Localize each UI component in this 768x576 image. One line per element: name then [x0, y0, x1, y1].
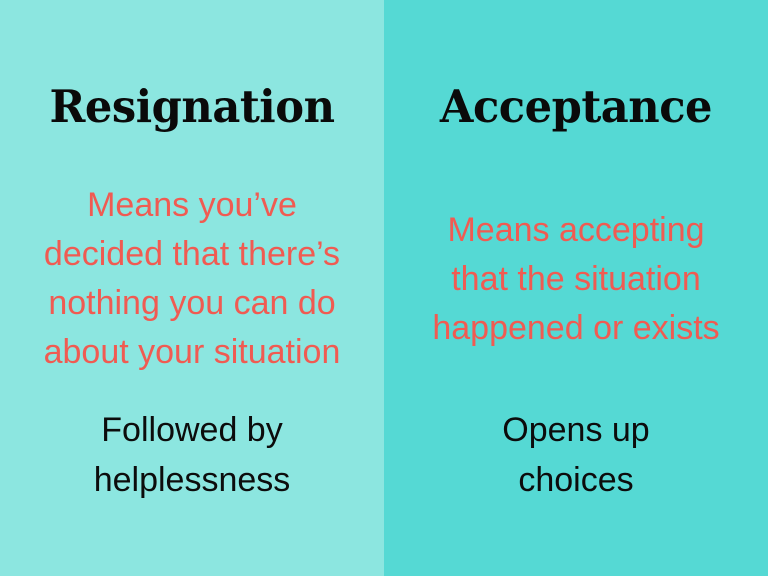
plain-line: helplessness: [0, 455, 384, 505]
accent-text-resignation: Means you’ve decided that there’s nothin…: [0, 181, 384, 377]
accent-line: decided that there’s: [0, 230, 384, 279]
plain-text-acceptance: Opens up choices: [384, 405, 768, 505]
accent-text-acceptance: Means accepting that the situation happe…: [384, 206, 768, 353]
plain-line: choices: [384, 455, 768, 505]
panel-title-resignation: Resignation: [8, 84, 377, 129]
accent-line: happened or exists: [384, 304, 768, 353]
plain-line: Followed by: [0, 405, 384, 455]
comparison-graphic: Resignation Means you’ve decided that th…: [0, 0, 768, 576]
plain-text-resignation: Followed by helplessness: [0, 405, 384, 505]
plain-line: Opens up: [384, 405, 768, 455]
panel-title-acceptance: Acceptance: [392, 84, 761, 129]
accent-line: nothing you can do: [0, 279, 384, 328]
accent-line: about your situation: [0, 328, 384, 377]
accent-line: that the situation: [384, 255, 768, 304]
accent-line: Means accepting: [384, 206, 768, 255]
panel-resignation: Resignation Means you’ve decided that th…: [0, 0, 384, 576]
panel-acceptance: Acceptance Means accepting that the situ…: [384, 0, 768, 576]
accent-line: Means you’ve: [0, 181, 384, 230]
